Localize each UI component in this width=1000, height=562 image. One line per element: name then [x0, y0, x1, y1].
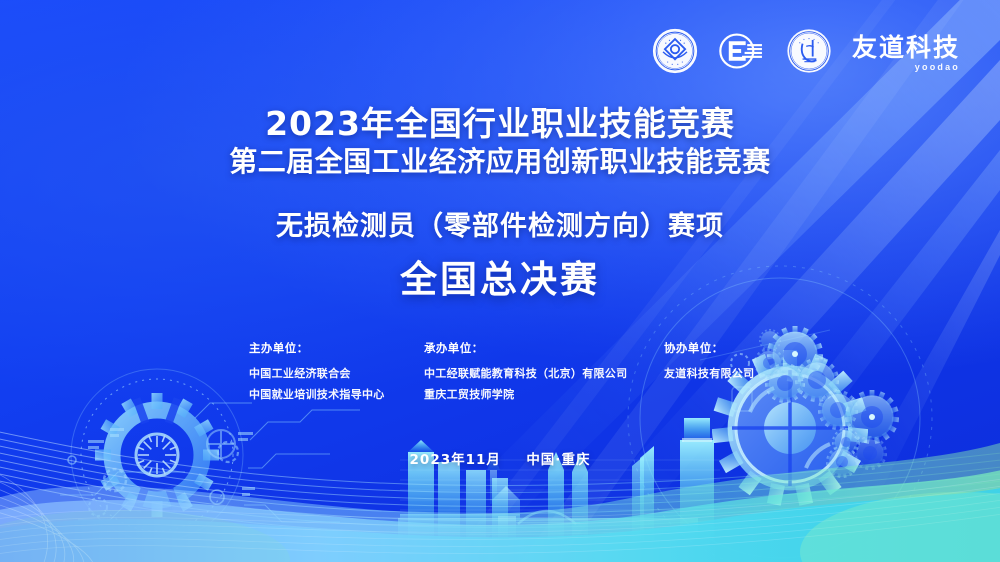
organizer-heading: 承办单位： [424, 340, 627, 356]
title-line-2: 第二届全国工业经济应用创新职业技能竞赛 [0, 144, 1000, 180]
title-line-3: 无损检测员（零部件检测方向）赛项 [0, 209, 1000, 244]
brand-name-cn: 友道科技 [852, 35, 960, 60]
banner-root: 友道科技 yoodao 2023年全国行业职业技能竞赛 第二届全国工业经济应用创… [0, 0, 1000, 562]
title-line-4: 全国总决赛 [0, 256, 1000, 304]
date-location-line: 2023年11月 中国·重庆 [0, 448, 1000, 468]
chongqing-institute-emblem-icon [786, 28, 832, 79]
organizers-block: 主办单位： 中国工业经济联合会 中国就业培训技术指导中心 承办单位： 中工经联赋… [0, 340, 1000, 410]
organizer-entry: 中国就业培训技术指导中心 [249, 384, 385, 405]
title-block: 2023年全国行业职业技能竞赛 第二届全国工业经济应用创新职业技能竞赛 无损检测… [0, 104, 1000, 304]
event-date: 2023年11月 [410, 452, 501, 468]
organizer-entry: 中工经联赋能教育科技（北京）有限公司 [424, 363, 627, 384]
china-industrial-economics-federation-emblem-icon [652, 28, 698, 79]
logo-bar: 友道科技 yoodao [652, 28, 960, 79]
organizer-group-undertaker: 承办单位： 中工经联赋能教育科技（北京）有限公司 重庆工贸技师学院 [424, 340, 627, 406]
organizer-entry: 友道科技有限公司 [664, 363, 754, 384]
organizer-group-coorganizer: 协办单位： 友道科技有限公司 [664, 340, 754, 384]
organizer-group-host: 主办单位： 中国工业经济联合会 中国就业培训技术指导中心 [249, 340, 385, 406]
organizer-entry: 中国工业经济联合会 [249, 363, 385, 384]
yoodao-brand-wordmark: 友道科技 yoodao [852, 35, 960, 72]
title-line-1: 2023年全国行业职业技能竞赛 [0, 104, 1000, 144]
organizer-entry: 重庆工贸技师学院 [424, 384, 627, 405]
brand-name-en: yoodao [915, 63, 960, 72]
organizer-heading: 主办单位： [249, 340, 385, 356]
organizer-heading: 协办单位： [664, 340, 754, 356]
e-letter-emblem-icon [716, 29, 768, 78]
event-location: 中国·重庆 [526, 452, 590, 468]
